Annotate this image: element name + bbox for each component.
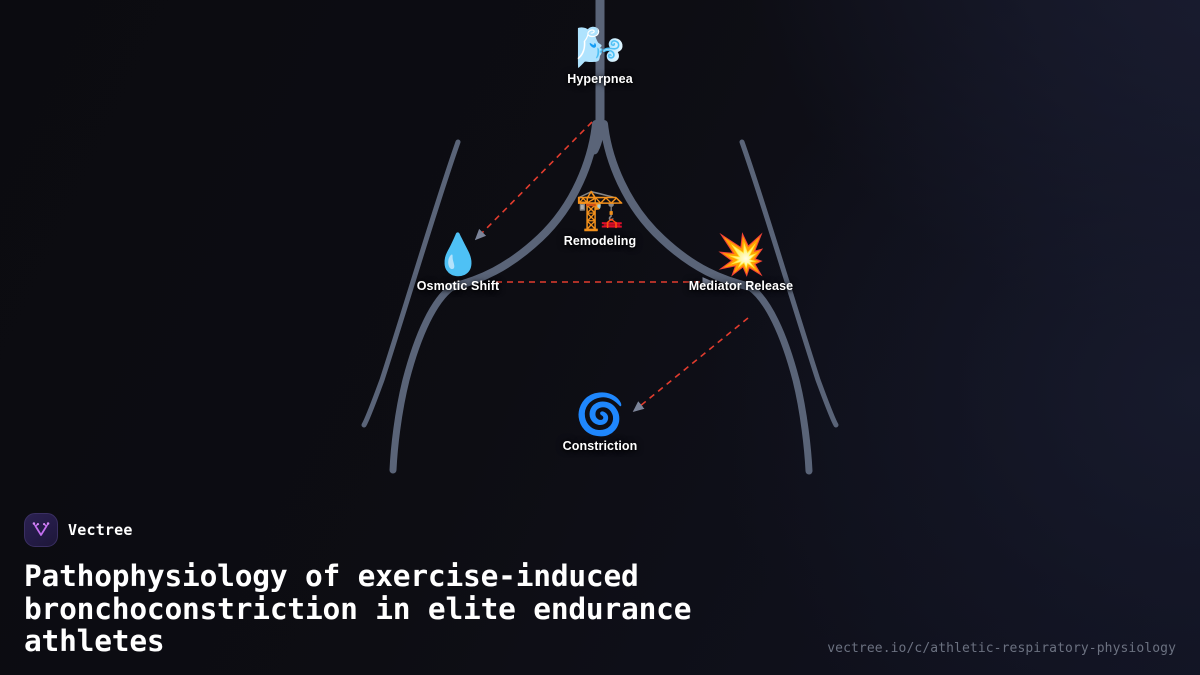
node-label-osmotic-shift: Osmotic Shift (388, 279, 528, 293)
brand[interactable]: Vectree (24, 513, 1176, 547)
node-mediator-release[interactable]: 💥 Mediator Release (671, 233, 811, 293)
cyclone-icon: 🌀 (530, 393, 670, 437)
node-hyperpnea[interactable]: 🌬️ Hyperpnea (530, 26, 670, 86)
footer: Vectree Pathophysiology of exercise-indu… (0, 492, 1200, 675)
page-title: Pathophysiology of exercise-induced bron… (24, 560, 824, 658)
wind-icon: 🌬️ (530, 26, 670, 70)
node-label-constriction: Constriction (530, 439, 670, 453)
right-lower-airway (750, 287, 809, 471)
node-label-remodeling: Remodeling (530, 234, 670, 248)
vectree-logo-icon (24, 513, 58, 547)
droplet-icon: 💧 (388, 233, 528, 277)
brand-name: Vectree (68, 521, 133, 539)
source-url: vectree.io/c/athletic-respiratory-physio… (827, 641, 1176, 656)
page-root: 🌬️ Hyperpnea 🏗️ Remodeling 💧 Osmotic Shi… (0, 0, 1200, 675)
node-remodeling[interactable]: 🏗️ Remodeling (530, 188, 670, 248)
node-label-mediator-release: Mediator Release (671, 279, 811, 293)
explosion-icon: 💥 (671, 233, 811, 277)
node-constriction[interactable]: 🌀 Constriction (530, 393, 670, 453)
node-label-hyperpnea: Hyperpnea (530, 72, 670, 86)
crane-icon: 🏗️ (530, 188, 670, 232)
diagram-canvas[interactable]: 🌬️ Hyperpnea 🏗️ Remodeling 💧 Osmotic Shi… (0, 0, 1200, 492)
node-osmotic-shift[interactable]: 💧 Osmotic Shift (388, 233, 528, 293)
